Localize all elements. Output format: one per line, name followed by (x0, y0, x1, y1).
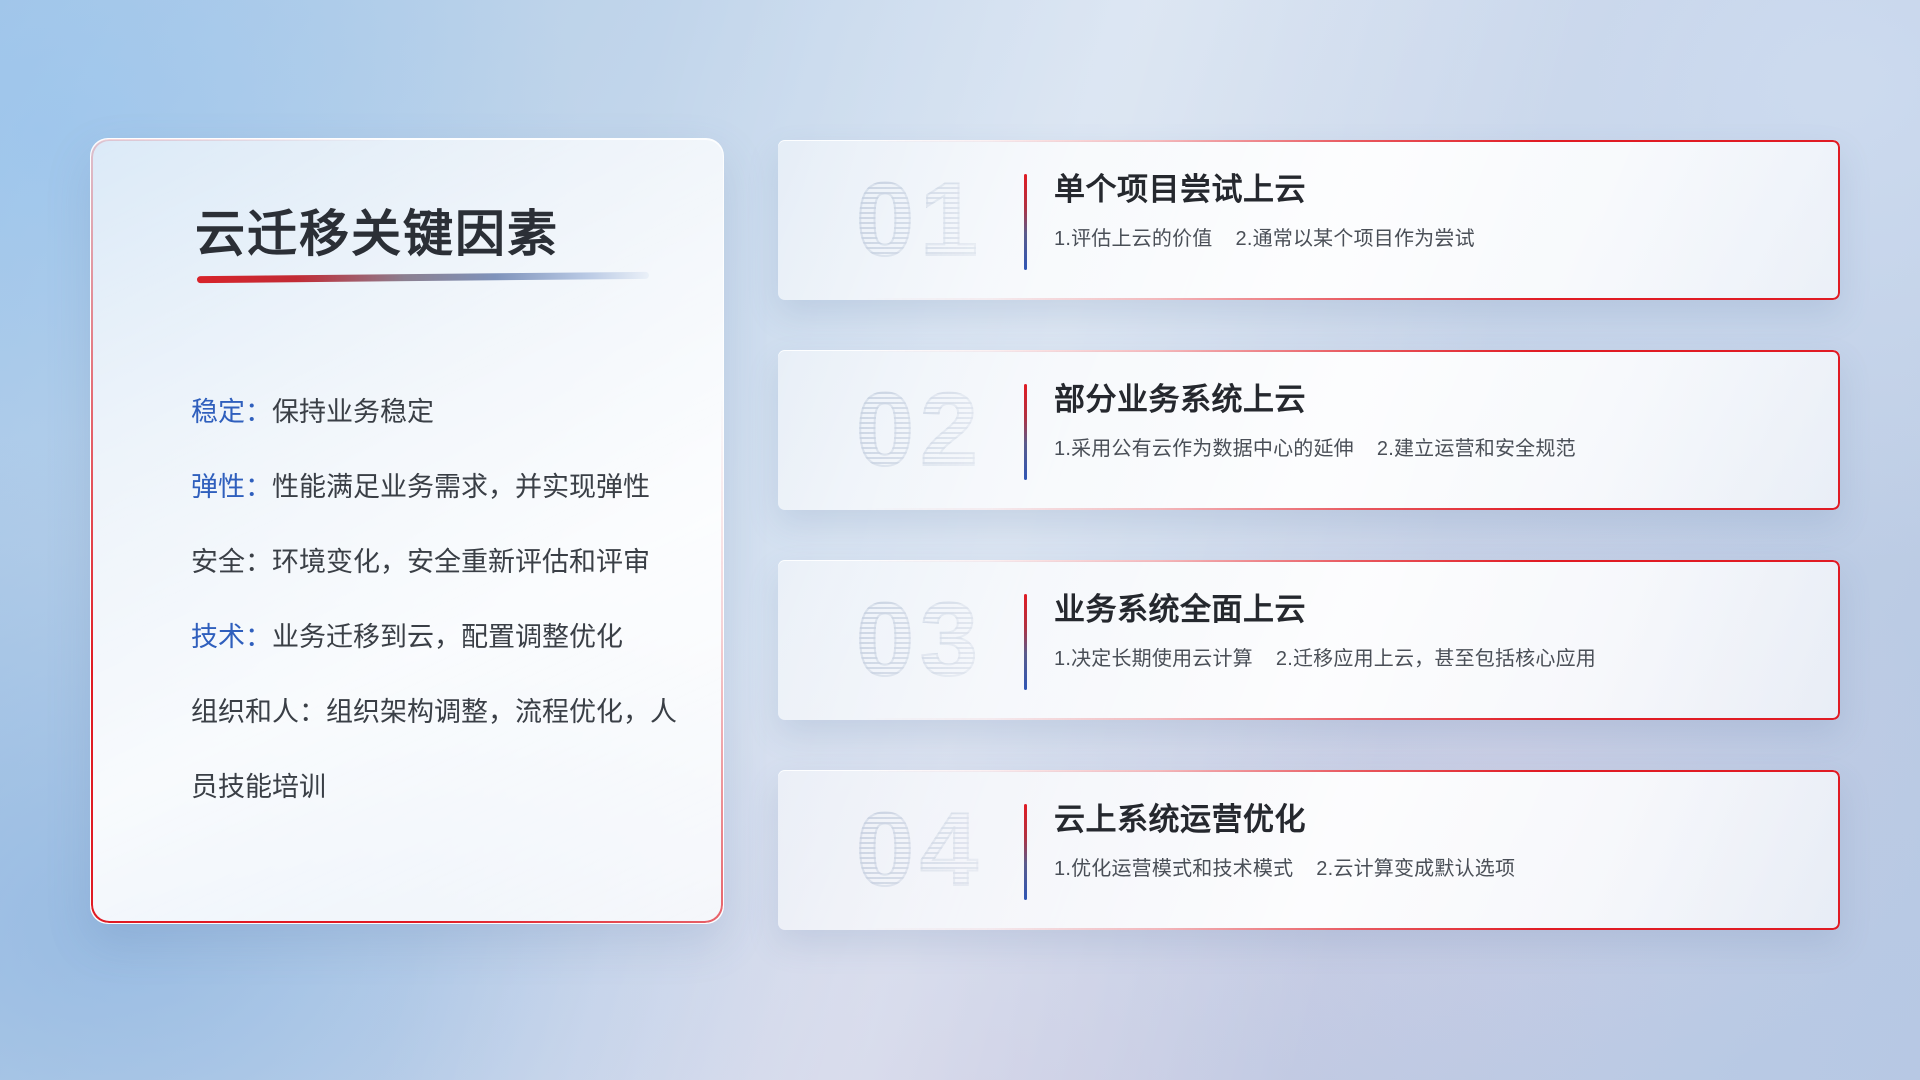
card-description: 1.评估上云的价值 2.通常以某个项目作为尝试 (1054, 224, 1816, 254)
slide-stage: 云迁移关键因素 稳定：保持业务稳定 弹性：性能满足业务需求，并实现弹性 安全：环… (0, 0, 1920, 1080)
list-item-value: 性能满足业务需求，并实现弹性 (272, 472, 650, 502)
card-number-watermark: 02 (800, 371, 1040, 489)
card-number-watermark: 01 (800, 161, 1040, 279)
stage-card-04[interactable]: 04 云上系统运营优化 1.优化运营模式和技术模式 2.云计算变成默认选项 (778, 770, 1840, 930)
list-item-key: 安全： (191, 547, 272, 577)
card-title: 业务系统全面上云 (1054, 588, 1816, 632)
card-body: 云上系统运营优化 1.优化运营模式和技术模式 2.云计算变成默认选项 (1054, 798, 1816, 884)
stage-card-01[interactable]: 01 单个项目尝试上云 1.评估上云的价值 2.通常以某个项目作为尝试 (778, 140, 1840, 300)
card-divider (1024, 384, 1027, 480)
card-divider (1024, 174, 1027, 270)
list-item-value: 业务迁移到云，配置调整优化 (272, 622, 623, 652)
card-number-watermark: 03 (800, 581, 1040, 699)
list-item: 技术：业务迁移到云，配置调整优化 (191, 600, 695, 675)
list-item-value: 保持业务稳定 (272, 397, 434, 427)
card-body: 部分业务系统上云 1.采用公有云作为数据中心的延伸 2.建立运营和安全规范 (1054, 378, 1816, 464)
stage-card-02[interactable]: 02 部分业务系统上云 1.采用公有云作为数据中心的延伸 2.建立运营和安全规范 (778, 350, 1840, 510)
list-item: 组织和人：组织架构调整，流程优化，人员技能培训 (191, 675, 695, 825)
list-item-key: 稳定： (191, 397, 272, 427)
list-item-key: 技术： (191, 622, 272, 652)
card-description: 1.采用公有云作为数据中心的延伸 2.建立运营和安全规范 (1054, 434, 1816, 464)
card-title: 单个项目尝试上云 (1054, 168, 1816, 212)
list-item-value: 环境变化，安全重新评估和评审 (272, 547, 650, 577)
card-body: 业务系统全面上云 1.决定长期使用云计算 2.迁移应用上云，甚至包括核心应用 (1054, 588, 1816, 674)
title-underline-rule (197, 272, 649, 283)
list-item: 安全：环境变化，安全重新评估和评审 (191, 525, 695, 600)
card-body: 单个项目尝试上云 1.评估上云的价值 2.通常以某个项目作为尝试 (1054, 168, 1816, 254)
key-factors-panel: 云迁移关键因素 稳定：保持业务稳定 弹性：性能满足业务需求，并实现弹性 安全：环… (90, 138, 724, 924)
page-title: 云迁移关键因素 (195, 194, 559, 266)
list-item-key: 弹性： (191, 472, 272, 502)
card-divider (1024, 594, 1027, 690)
stage-card-03[interactable]: 03 业务系统全面上云 1.决定长期使用云计算 2.迁移应用上云，甚至包括核心应… (778, 560, 1840, 720)
key-factors-list: 稳定：保持业务稳定 弹性：性能满足业务需求，并实现弹性 安全：环境变化，安全重新… (191, 375, 695, 825)
card-divider (1024, 804, 1027, 900)
list-item-key: 组织和人： (191, 697, 326, 727)
card-title: 部分业务系统上云 (1054, 378, 1816, 422)
list-item: 弹性：性能满足业务需求，并实现弹性 (191, 450, 695, 525)
card-number-watermark: 04 (800, 791, 1040, 909)
card-description: 1.决定长期使用云计算 2.迁移应用上云，甚至包括核心应用 (1054, 644, 1816, 674)
list-item: 稳定：保持业务稳定 (191, 375, 695, 450)
card-title: 云上系统运营优化 (1054, 798, 1816, 842)
card-description: 1.优化运营模式和技术模式 2.云计算变成默认选项 (1054, 854, 1816, 884)
